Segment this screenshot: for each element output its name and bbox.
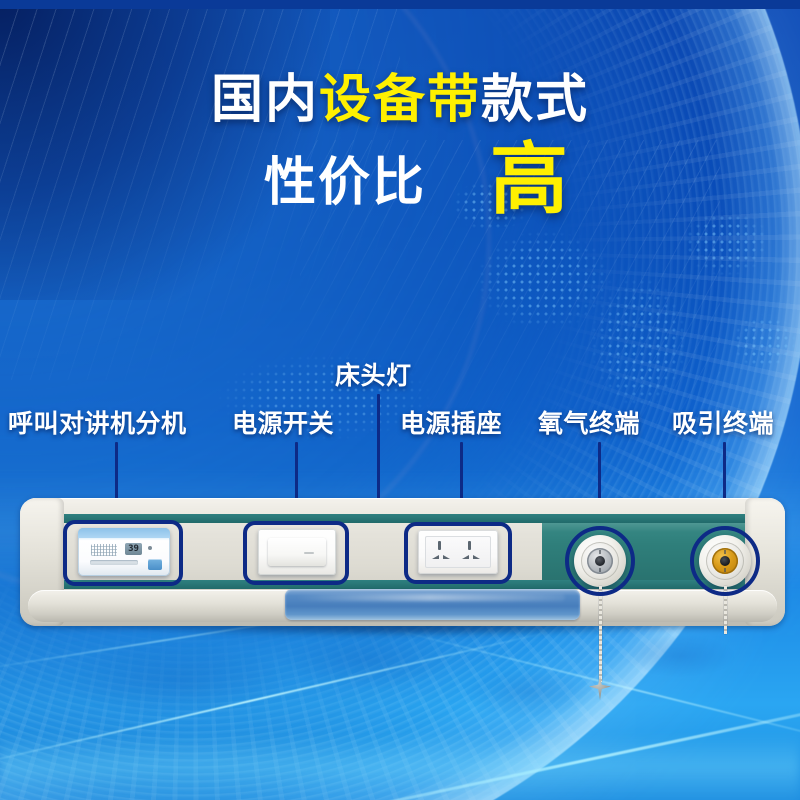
callout-label-oxygen-terminal: 氧气终端 xyxy=(538,404,640,440)
headline-text-equipment-belt: 设备带 xyxy=(319,71,481,129)
callout-label-suction-terminal: 吸引终端 xyxy=(672,404,774,440)
product-banner: 国内设备带款式 性价比 高 呼叫对讲机分机 电源开关 床头灯 电源插座 氧气终端… xyxy=(0,0,800,800)
headline-text-high: 高 xyxy=(490,144,570,214)
highlight-circle-suction-terminal xyxy=(690,526,760,596)
callout-label-power-socket: 电源插座 xyxy=(400,404,502,440)
headline-line-2: 性价比 高 xyxy=(0,148,800,218)
callout-label-bed-lamp: 床头灯 xyxy=(335,356,412,392)
callout-labels: 呼叫对讲机分机 电源开关 床头灯 电源插座 氧气终端 吸引终端 xyxy=(0,404,800,452)
headline-text-value-ratio: 性价比 xyxy=(264,157,426,209)
bottom-glow xyxy=(0,735,800,800)
highlight-box-intercom xyxy=(63,520,183,586)
callout-label-intercom: 呼叫对讲机分机 xyxy=(8,404,187,440)
bed-lamp-sheen xyxy=(295,594,565,601)
highlight-box-power-socket xyxy=(404,522,512,584)
headline-line-1: 国内设备带款式 xyxy=(0,74,800,126)
headline-text-style: 款式 xyxy=(481,71,589,129)
oxygen-pull-cord[interactable] xyxy=(599,586,602,682)
top-edge-strip xyxy=(0,0,800,9)
highlight-box-power-switch xyxy=(243,521,349,585)
headline-text-domestic: 国内 xyxy=(211,71,319,129)
callout-label-power-switch: 电源开关 xyxy=(232,404,334,440)
headline-block: 国内设备带款式 性价比 高 xyxy=(0,74,800,218)
highlight-circle-oxygen-terminal xyxy=(565,526,635,596)
